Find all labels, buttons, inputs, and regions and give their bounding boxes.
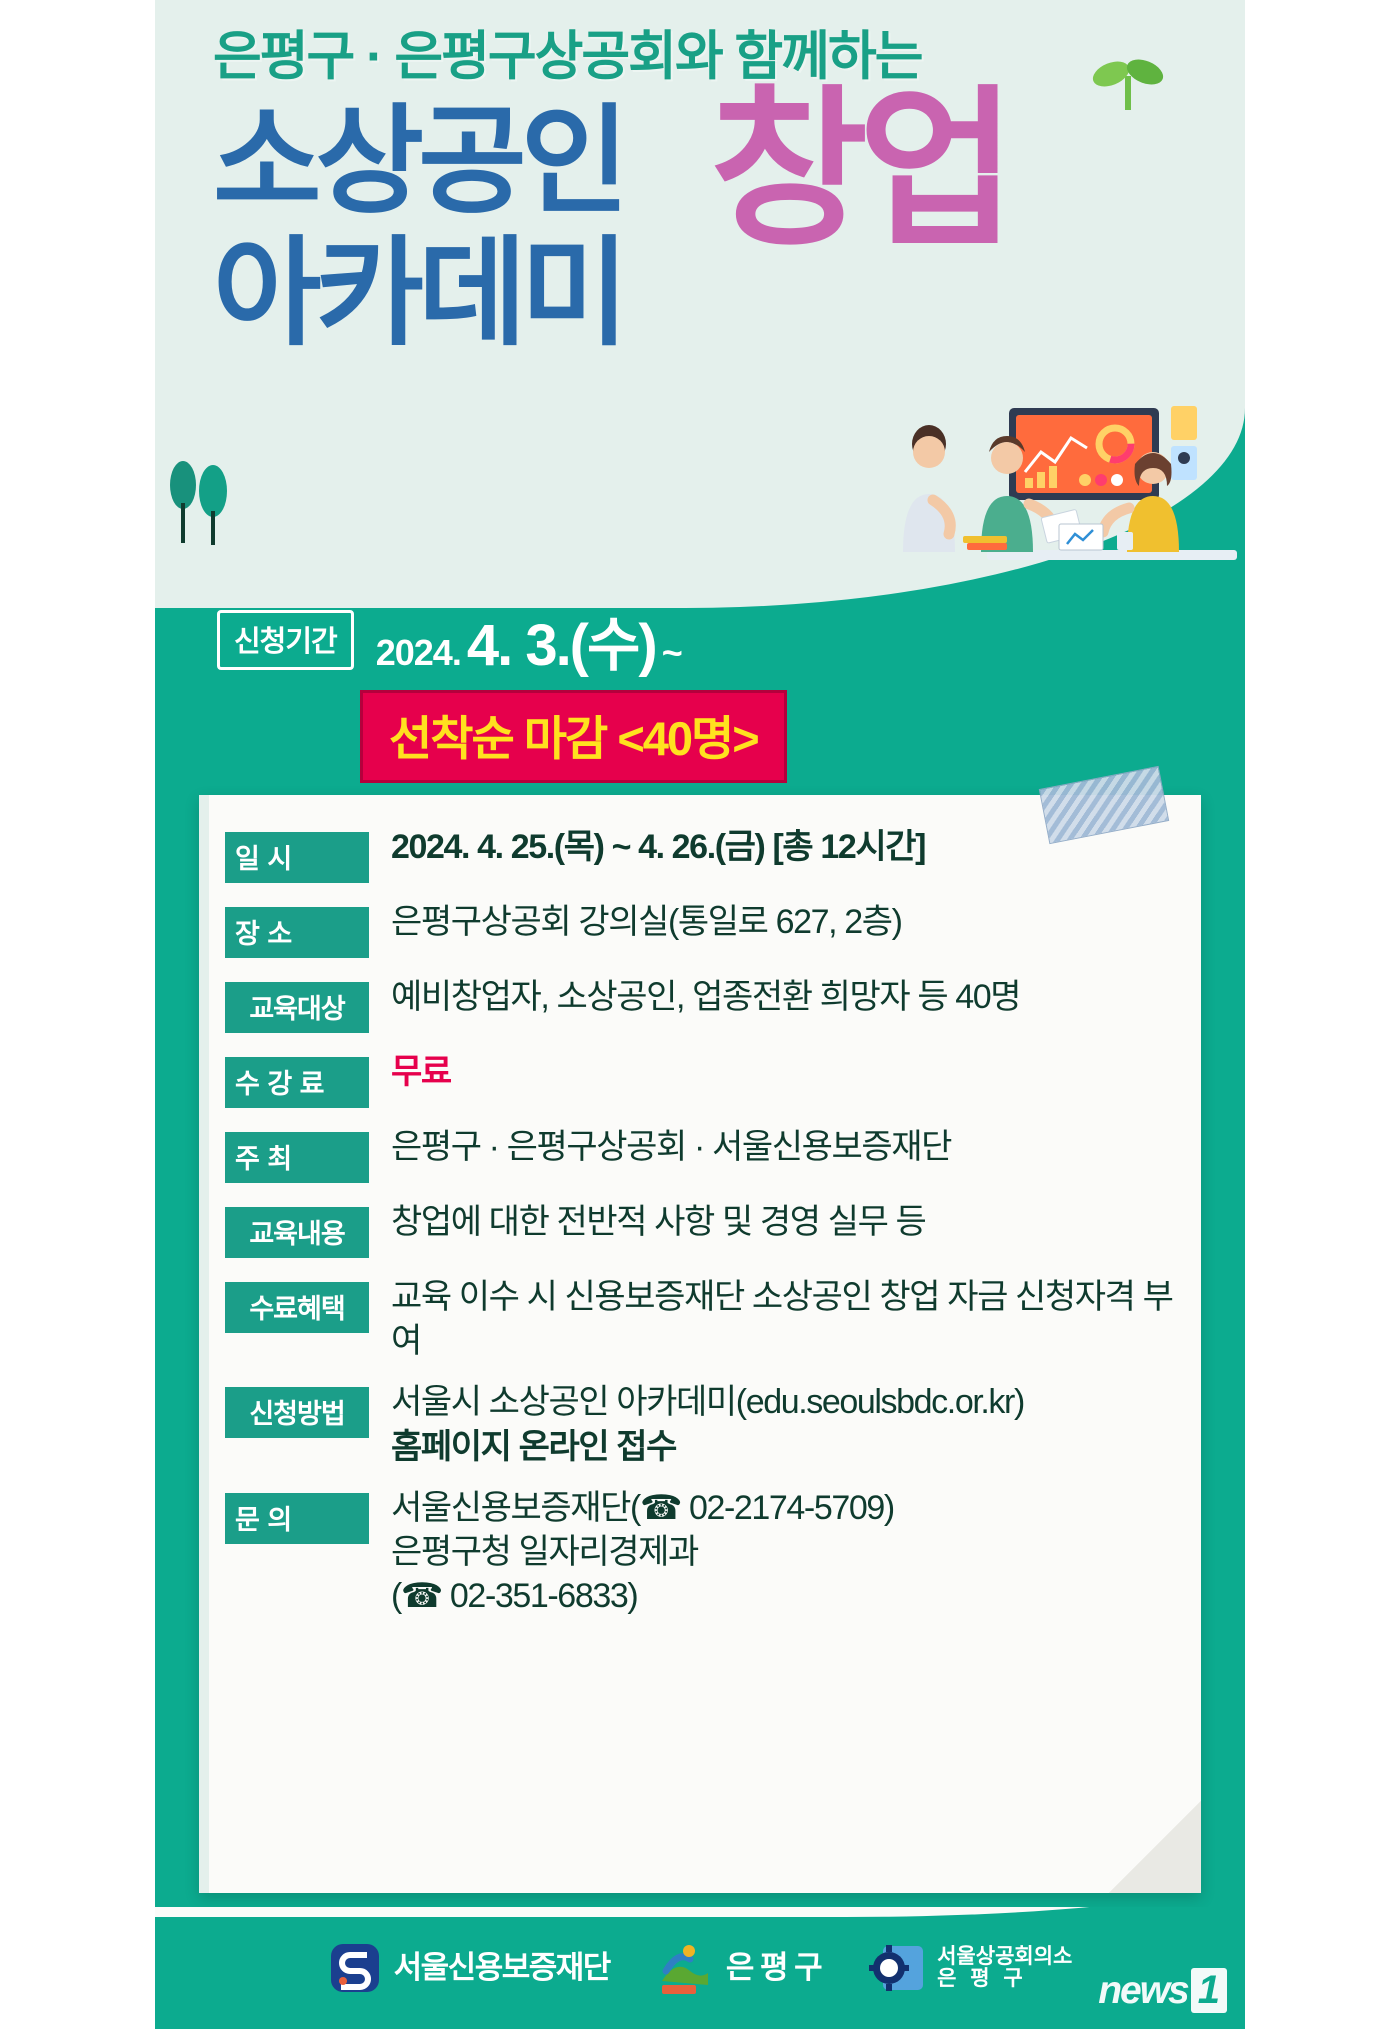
logo-chamber-line1: 서울상공회의소 bbox=[937, 1945, 1072, 1968]
teal-curve-fill bbox=[155, 378, 831, 533]
detail-value-host: 은평구 · 은평구상공회 · 서울신용보증재단 bbox=[369, 1125, 1183, 1169]
contact-line-1: 서울신용보증재단(☎ 02-2174-5709) bbox=[391, 1489, 894, 1527]
detail-value-fee: 무료 bbox=[369, 1050, 1183, 1094]
contact-line-2: 은평구청 일자리경제과 bbox=[391, 1533, 698, 1571]
footer-bar: 서울신용보증재단 은 평 구 bbox=[155, 1907, 1245, 2029]
fee-free-text: 무료 bbox=[391, 1053, 451, 1091]
title-line-2: 아카데미 bbox=[213, 228, 623, 360]
business-meeting-illustration bbox=[877, 400, 1237, 600]
news1-word: news bbox=[1098, 1969, 1188, 2013]
detail-value-venue: 은평구상공회 강의실(통일로 627, 2층) bbox=[369, 900, 1183, 944]
detail-row-contact: 문 의 서울신용보증재단(☎ 02-2174-5709) 은평구청 일자리경제과… bbox=[225, 1486, 1183, 1619]
right-gutter bbox=[1245, 0, 1400, 2029]
news1-one: 1 bbox=[1191, 1968, 1227, 2013]
poster-root: 은평구 · 은평구상공회와 함께하는 소상공인 아카데미 창업 bbox=[0, 0, 1400, 2029]
detail-value-howto: 서울시 소상공인 아카데미(edu.seoulsbdc.or.kr) 홈페이지 … bbox=[369, 1380, 1183, 1468]
logo-eunpyeong: 은 평 구 bbox=[656, 1941, 821, 1995]
apply-tilde: ~ bbox=[662, 632, 682, 674]
detail-label-contact: 문 의 bbox=[225, 1493, 369, 1544]
detail-value-datetime: 2024. 4. 25.(목) ~ 4. 26.(금) [총 12시간] bbox=[369, 825, 1183, 869]
detail-label-datetime-text: 일 시 bbox=[235, 837, 359, 876]
detail-row-fee: 수 강 료 무료 bbox=[225, 1050, 1183, 1108]
detail-label-fee-text: 수 강 료 bbox=[235, 1062, 359, 1101]
poster-title-accent: 창업 bbox=[710, 88, 1006, 253]
details-rows: 일 시 2024. 4. 25.(목) ~ 4. 26.(금) [총 12시간]… bbox=[225, 825, 1183, 1635]
detail-label-fee: 수 강 료 bbox=[225, 1057, 369, 1108]
logo-chamber: 서울상공회의소 은 평 구 bbox=[867, 1943, 1072, 1993]
detail-row-venue: 장 소 은평구상공회 강의실(통일로 627, 2층) bbox=[225, 900, 1183, 958]
eunpyeong-gu-logo-icon bbox=[656, 1941, 714, 1995]
apply-date-main: 4. 3.(수) bbox=[467, 598, 656, 682]
detail-row-howto: 신청방법 서울시 소상공인 아카데미(edu.seoulsbdc.or.kr) … bbox=[225, 1380, 1183, 1468]
poster-canvas: 은평구 · 은평구상공회와 함께하는 소상공인 아카데미 창업 bbox=[155, 0, 1245, 2029]
detail-label-audience: 교육대상 bbox=[225, 982, 369, 1033]
detail-label-howto: 신청방법 bbox=[225, 1387, 369, 1438]
sbdc-logo-icon bbox=[328, 1941, 382, 1995]
deadline-badge: 선착순 마감 <40명> bbox=[360, 690, 787, 783]
detail-label-host: 주 최 bbox=[225, 1132, 369, 1183]
detail-label-contact-text: 문 의 bbox=[235, 1498, 359, 1537]
detail-value-contact: 서울신용보증재단(☎ 02-2174-5709) 은평구청 일자리경제과 (☎ … bbox=[369, 1486, 1183, 1619]
chamber-of-commerce-logo-icon bbox=[867, 1943, 925, 1993]
detail-value-audience: 예비창업자, 소상공인, 업종전환 희망자 등 40명 bbox=[369, 975, 1183, 1019]
detail-label-benefit: 수료혜택 bbox=[225, 1282, 369, 1333]
detail-row-host: 주 최 은평구 · 은평구상공회 · 서울신용보증재단 bbox=[225, 1125, 1183, 1183]
news1-watermark: news 1 bbox=[1098, 1968, 1227, 2013]
logo-chamber-line2: 은 평 구 bbox=[937, 1968, 1072, 1990]
detail-label-datetime: 일 시 bbox=[225, 832, 369, 883]
application-period-date: 2024. 4. 3.(수) ~ bbox=[376, 598, 682, 682]
howto-line-2: 홈페이지 온라인 접수 bbox=[391, 1425, 1183, 1469]
detail-row-content: 교육내용 창업에 대한 전반적 사항 및 경영 실무 등 bbox=[225, 1200, 1183, 1258]
poster-title: 소상공인 아카데미 bbox=[213, 96, 623, 360]
details-card: 일 시 2024. 4. 25.(목) ~ 4. 26.(금) [총 12시간]… bbox=[199, 795, 1201, 1893]
detail-value-content: 창업에 대한 전반적 사항 및 경영 실무 등 bbox=[369, 1200, 1183, 1244]
detail-value-benefit: 교육 이수 시 신용보증재단 소상공인 창업 자금 신청자격 부여 bbox=[369, 1275, 1183, 1363]
logo-eunpyeong-label: 은 평 구 bbox=[726, 1952, 821, 1985]
sprout-icon bbox=[1090, 58, 1164, 110]
page-fold bbox=[1109, 1801, 1201, 1893]
detail-row-datetime: 일 시 2024. 4. 25.(목) ~ 4. 26.(금) [총 12시간] bbox=[225, 825, 1183, 883]
logo-sbdc: 서울신용보증재단 bbox=[328, 1941, 610, 1995]
detail-label-venue: 장 소 bbox=[225, 907, 369, 958]
application-period-tag: 신청기간 bbox=[217, 610, 354, 670]
detail-label-venue-text: 장 소 bbox=[235, 912, 359, 951]
left-gutter bbox=[0, 0, 155, 2029]
logo-sbdc-label: 서울신용보증재단 bbox=[394, 1952, 610, 1985]
contact-line-3: (☎ 02-351-6833) bbox=[391, 1577, 637, 1615]
howto-line-1: 서울시 소상공인 아카데미(edu.seoulsbdc.or.kr) bbox=[391, 1383, 1024, 1421]
detail-row-audience: 교육대상 예비창업자, 소상공인, 업종전환 희망자 등 40명 bbox=[225, 975, 1183, 1033]
logo-chamber-label: 서울상공회의소 은 평 구 bbox=[937, 1946, 1072, 1990]
trees-icon bbox=[169, 455, 233, 545]
apply-year: 2024. bbox=[376, 632, 461, 674]
detail-label-host-text: 주 최 bbox=[235, 1137, 359, 1176]
detail-label-content: 교육내용 bbox=[225, 1207, 369, 1258]
application-period-row: 신청기간 2024. 4. 3.(수) ~ bbox=[217, 598, 682, 682]
title-line-1: 소상공인 bbox=[213, 96, 623, 228]
detail-row-benefit: 수료혜택 교육 이수 시 신용보증재단 소상공인 창업 자금 신청자격 부여 bbox=[225, 1275, 1183, 1363]
